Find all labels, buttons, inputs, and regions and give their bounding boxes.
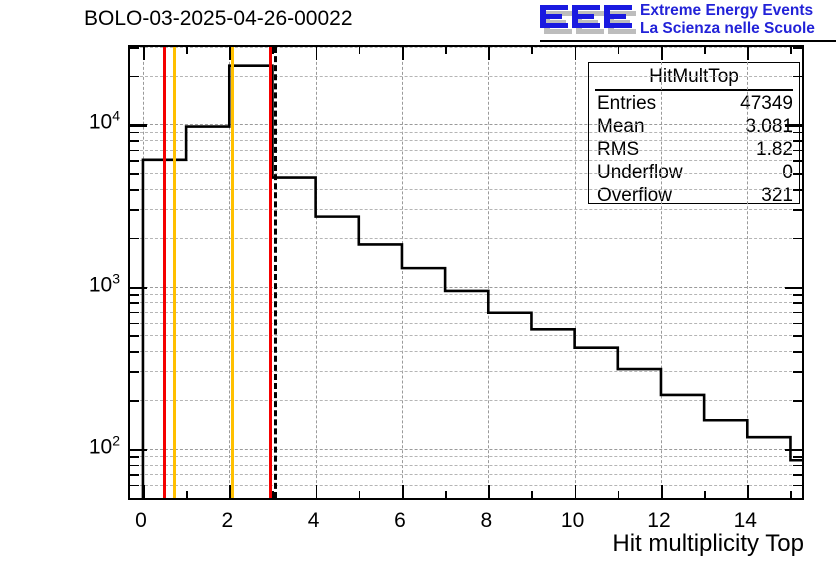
y-axis-tick (130, 47, 139, 49)
logo-underline (540, 40, 836, 42)
y-axis-tick (130, 160, 139, 162)
y-axis-tick-right (793, 189, 802, 191)
y-axis-tick-right (785, 124, 802, 127)
y-tick-label: 103 (89, 274, 120, 295)
x-axis-tick-top (316, 47, 318, 60)
y-axis-tick-right (793, 312, 802, 314)
marker-orange-1 (173, 47, 176, 498)
y-axis-tick-right (793, 371, 802, 373)
y-axis-tick (130, 287, 147, 290)
x-tick-label: 14 (734, 510, 757, 531)
y-axis-tick (130, 173, 139, 175)
x-axis-tick-top (186, 47, 188, 54)
y-axis-tick-right (793, 132, 802, 134)
y-axis-tick-right (793, 400, 802, 402)
y-axis-tick (130, 209, 139, 211)
x-axis-tick-top (272, 47, 274, 54)
x-axis-tick-top (704, 47, 706, 54)
x-axis-tick (575, 485, 577, 498)
x-axis-tick (488, 485, 490, 498)
y-tick-label: 104 (89, 112, 120, 133)
x-axis-title: Hit multiplicity Top (612, 531, 804, 557)
x-axis-tick (747, 485, 749, 498)
plot-frame (128, 45, 804, 500)
x-axis-tick (661, 485, 663, 498)
x-axis-tick (229, 485, 231, 498)
y-axis-tick-right (793, 238, 802, 240)
x-axis-tick-top (575, 47, 577, 60)
y-axis-tick (130, 465, 139, 467)
y-axis-tick (130, 132, 139, 134)
marker-black-dashed (274, 47, 277, 498)
y-axis-tick (130, 335, 139, 337)
x-tick-label: 12 (647, 510, 670, 531)
x-tick-label: 10 (561, 510, 584, 531)
y-axis-tick-right (793, 323, 802, 325)
x-tick-label: 6 (394, 510, 406, 531)
y-axis-tick-right (793, 485, 802, 487)
y-axis-tick (130, 124, 147, 127)
y-axis-tick (130, 456, 139, 458)
y-axis-tick (130, 351, 139, 353)
x-axis-tick-top (618, 47, 620, 54)
logo-line-1: Extreme Energy Events (640, 2, 813, 19)
y-axis-tick-right (793, 209, 802, 211)
y-axis-tick (130, 371, 139, 373)
x-axis-tick (790, 491, 792, 498)
x-tick-label: 8 (480, 510, 492, 531)
y-axis-tick (130, 189, 139, 191)
x-axis-tick-top (747, 47, 749, 60)
logo-text: Extreme Energy Events La Scienza nelle S… (640, 2, 815, 37)
y-axis-tick (130, 323, 139, 325)
y-axis-tick-right (793, 140, 802, 142)
marker-orange-2 (231, 47, 234, 498)
y-axis-tick (130, 294, 139, 296)
root-canvas: BOLO-03-2025-04-26-00022 (0, 0, 836, 572)
y-axis-tick-right (793, 76, 802, 78)
x-axis-tick (618, 491, 620, 498)
x-axis-tick (143, 485, 145, 498)
y-axis-tick (130, 400, 139, 402)
y-axis-tick-right (793, 474, 802, 476)
y-axis-tick (130, 474, 139, 476)
x-axis-tick-top (229, 47, 231, 60)
x-axis-tick-top (531, 47, 533, 54)
x-axis-tick-top (402, 47, 404, 60)
eee-logo: Extreme Energy Events La Scienza nelle S… (540, 1, 836, 41)
y-axis-tick (130, 140, 139, 142)
y-axis-tick-right (793, 150, 802, 152)
x-axis-tick-top (790, 47, 792, 54)
plot-area (130, 47, 802, 498)
y-axis-tick-right (793, 335, 802, 337)
y-axis-tick (130, 485, 139, 487)
y-axis-tick-right (785, 287, 802, 290)
x-axis-tick-top (143, 47, 145, 60)
x-axis-tick (272, 491, 274, 498)
x-axis-tick (316, 485, 318, 498)
y-axis-tick (130, 76, 139, 78)
x-axis-tick-top (359, 47, 361, 54)
y-tick-label: 102 (89, 436, 120, 457)
y-axis-tick-right (793, 47, 802, 49)
y-axis-tick-right (793, 302, 802, 304)
x-axis-tick (402, 485, 404, 498)
y-axis-tick-right (793, 160, 802, 162)
x-axis-tick (445, 491, 447, 498)
marker-red-2 (269, 47, 272, 498)
eee-mark-icon (540, 2, 636, 36)
y-axis-tick (130, 449, 147, 452)
marker-red-1 (163, 47, 166, 498)
y-axis-tick (130, 302, 139, 304)
y-axis-tick (130, 312, 139, 314)
y-axis-tick-right (793, 456, 802, 458)
y-axis-tick-right (793, 294, 802, 296)
y-axis-tick-right (785, 449, 802, 452)
x-axis-tick-top (488, 47, 490, 60)
page-title: BOLO-03-2025-04-26-00022 (84, 6, 353, 32)
y-axis-tick-right (793, 173, 802, 175)
x-tick-label: 0 (135, 510, 147, 531)
logo-line-2: La Scienza nelle Scuole (640, 20, 815, 38)
x-tick-label: 2 (221, 510, 233, 531)
x-axis-tick-top (445, 47, 447, 54)
y-axis-tick (130, 238, 139, 240)
y-axis-tick-right (793, 465, 802, 467)
y-axis-tick-right (793, 351, 802, 353)
x-axis-tick (359, 491, 361, 498)
y-axis-tick (130, 150, 139, 152)
x-axis-tick (704, 491, 706, 498)
x-axis-tick-top (661, 47, 663, 60)
x-axis-tick (531, 491, 533, 498)
x-tick-label: 4 (308, 510, 320, 531)
x-axis-tick (186, 491, 188, 498)
